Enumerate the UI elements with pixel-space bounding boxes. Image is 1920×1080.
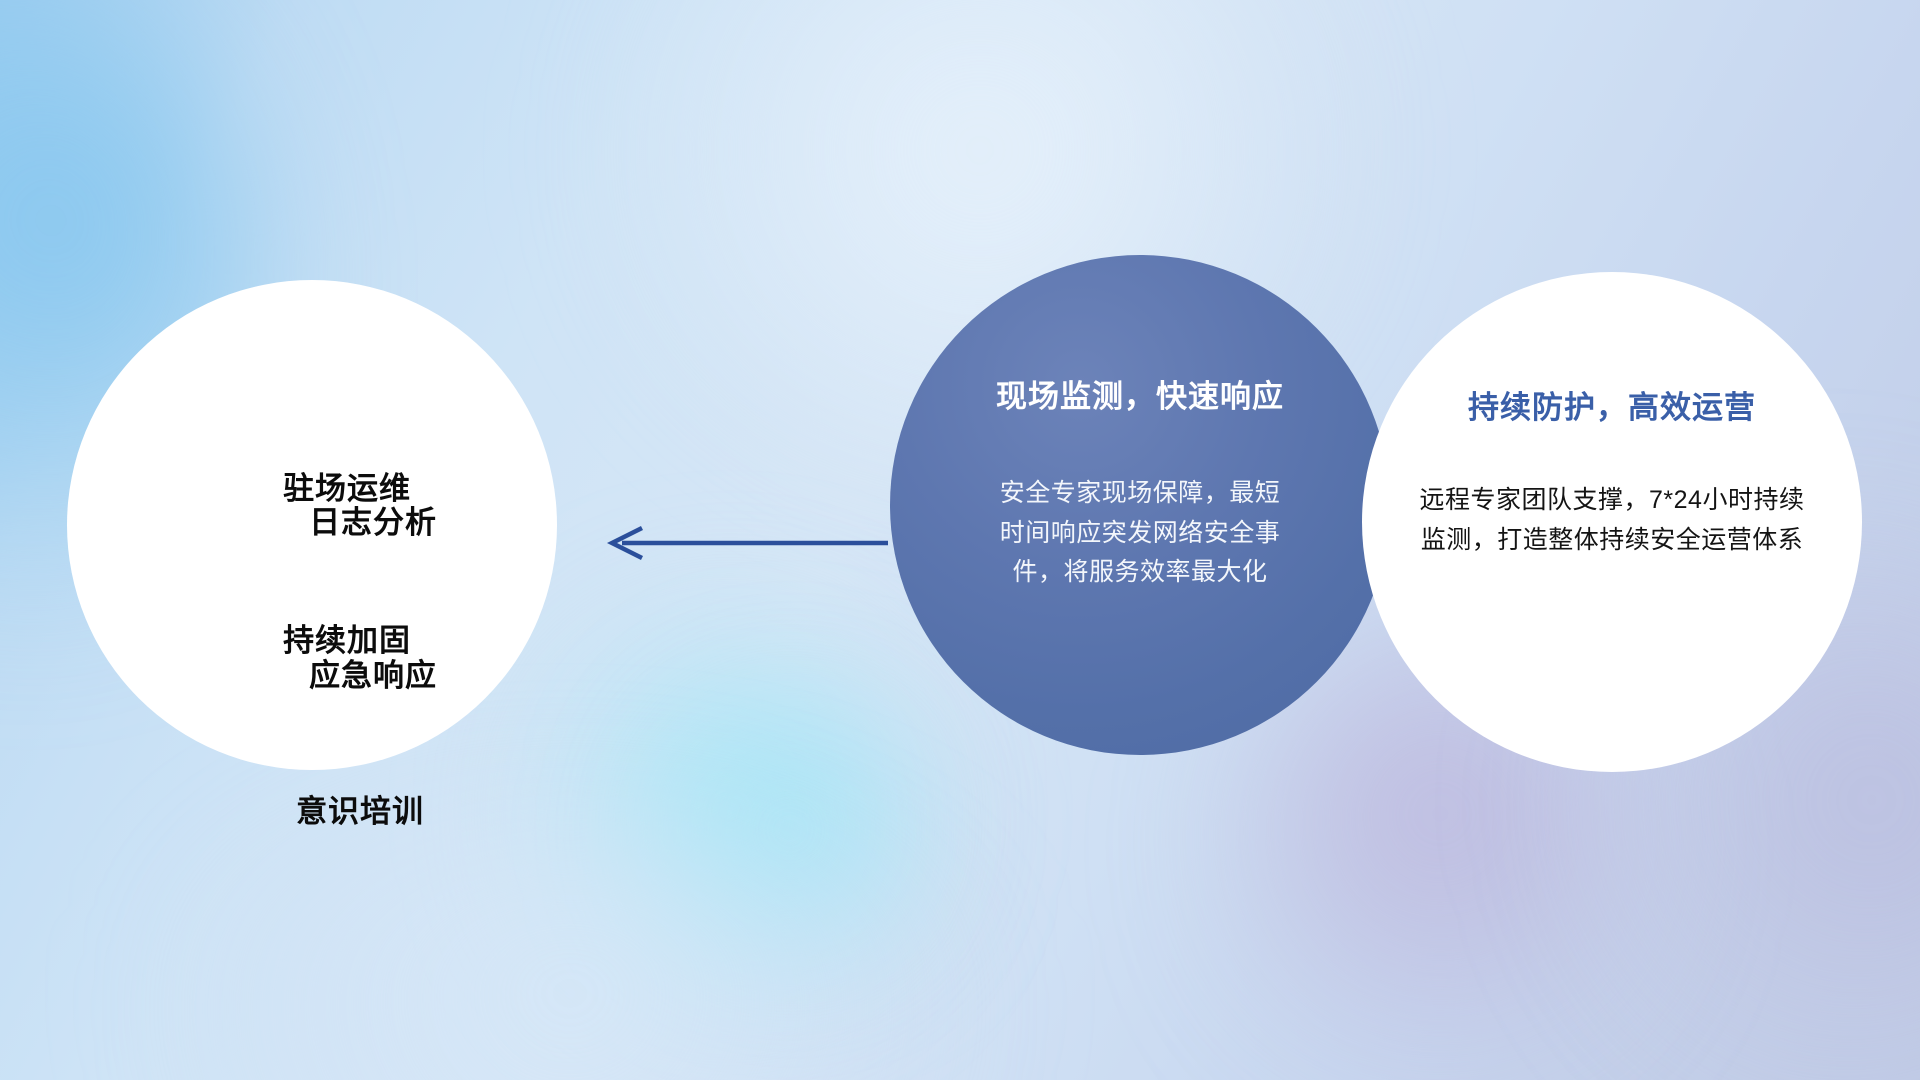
arrow-left-icon [600,522,890,564]
onsite-monitoring-content: 现场监测，快速响应 安全专家现场保障，最短时间响应突发网络安全事件，将服务效率最… [890,255,1390,755]
capability-label: 应急响应 [309,658,437,693]
capability-label: 意识培训 [296,794,424,829]
list-item: 驻场运维 日志分析 [187,438,437,574]
list-item: 持续加固 应急响应 [187,590,437,726]
continuous-protection-body: 远程专家团队支撑，7*24小时持续监测，打造整体持续安全运营体系 [1414,481,1810,560]
capability-label: 日志分析 [309,505,437,540]
continuous-protection-content: 持续防护，高效运营 远程专家团队支撑，7*24小时持续监测，打造整体持续安全运营… [1362,272,1862,772]
slide-canvas: 驻场运维 日志分析 持续加固 应急响应 意识培训 现场监测，快速响应 安全专家现… [0,0,1920,1080]
service-capability-content: 驻场运维 日志分析 持续加固 应急响应 意识培训 [67,280,557,770]
capability-label: 持续加固 [283,623,411,658]
service-capability-circle[interactable]: 驻场运维 日志分析 持续加固 应急响应 意识培训 [67,280,557,770]
onsite-monitoring-circle[interactable]: 现场监测，快速响应 安全专家现场保障，最短时间响应突发网络安全事件，将服务效率最… [890,255,1390,755]
list-item: 意识培训 [200,761,424,863]
continuous-protection-circle[interactable]: 持续防护，高效运营 远程专家团队支撑，7*24小时持续监测，打造整体持续安全运营… [1362,272,1862,772]
service-capability-list: 驻场运维 日志分析 持续加固 应急响应 意识培训 [187,438,437,863]
capability-label: 驻场运维 [283,471,411,506]
onsite-monitoring-body: 安全专家现场保障，最短时间响应突发网络安全事件，将服务效率最大化 [990,474,1290,593]
onsite-monitoring-title: 现场监测，快速响应 [996,371,1284,416]
continuous-protection-title: 持续防护，高效运营 [1468,382,1756,427]
